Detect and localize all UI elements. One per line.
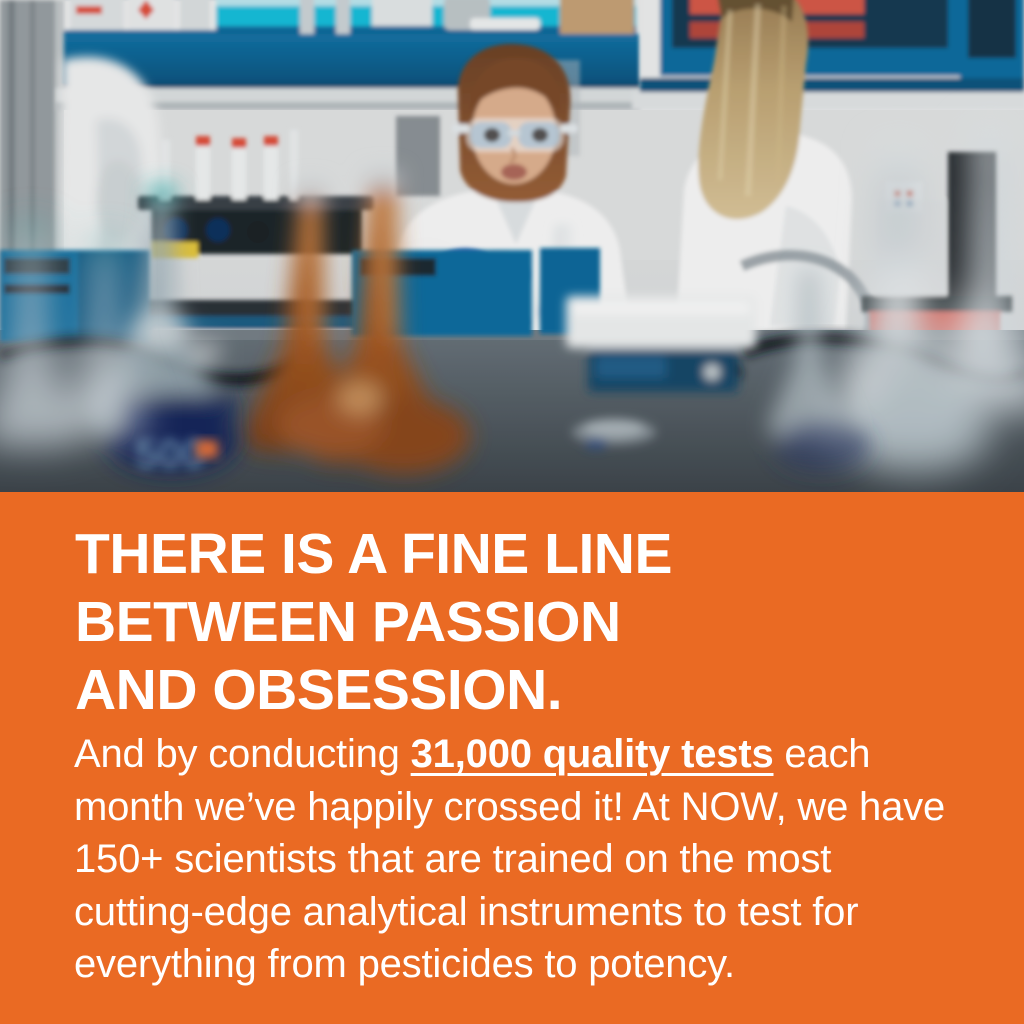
orange-copy-panel: THERE IS A FINE LINE BETWEEN PASSION AND… [0,492,1024,1024]
lab-photo-illustration: 500 [0,0,1024,492]
page-title: THERE IS A FINE LINE BETWEEN PASSION AND… [75,520,975,724]
quality-tests-highlight: 31,000 quality tests [411,732,774,776]
body-copy: And by conducting 31,000 quality tests e… [74,728,954,991]
lab-photo: 500 [0,0,1024,492]
advertisement-card: 500 [0,0,1024,1024]
body-copy-before: And by conducting [74,732,411,776]
